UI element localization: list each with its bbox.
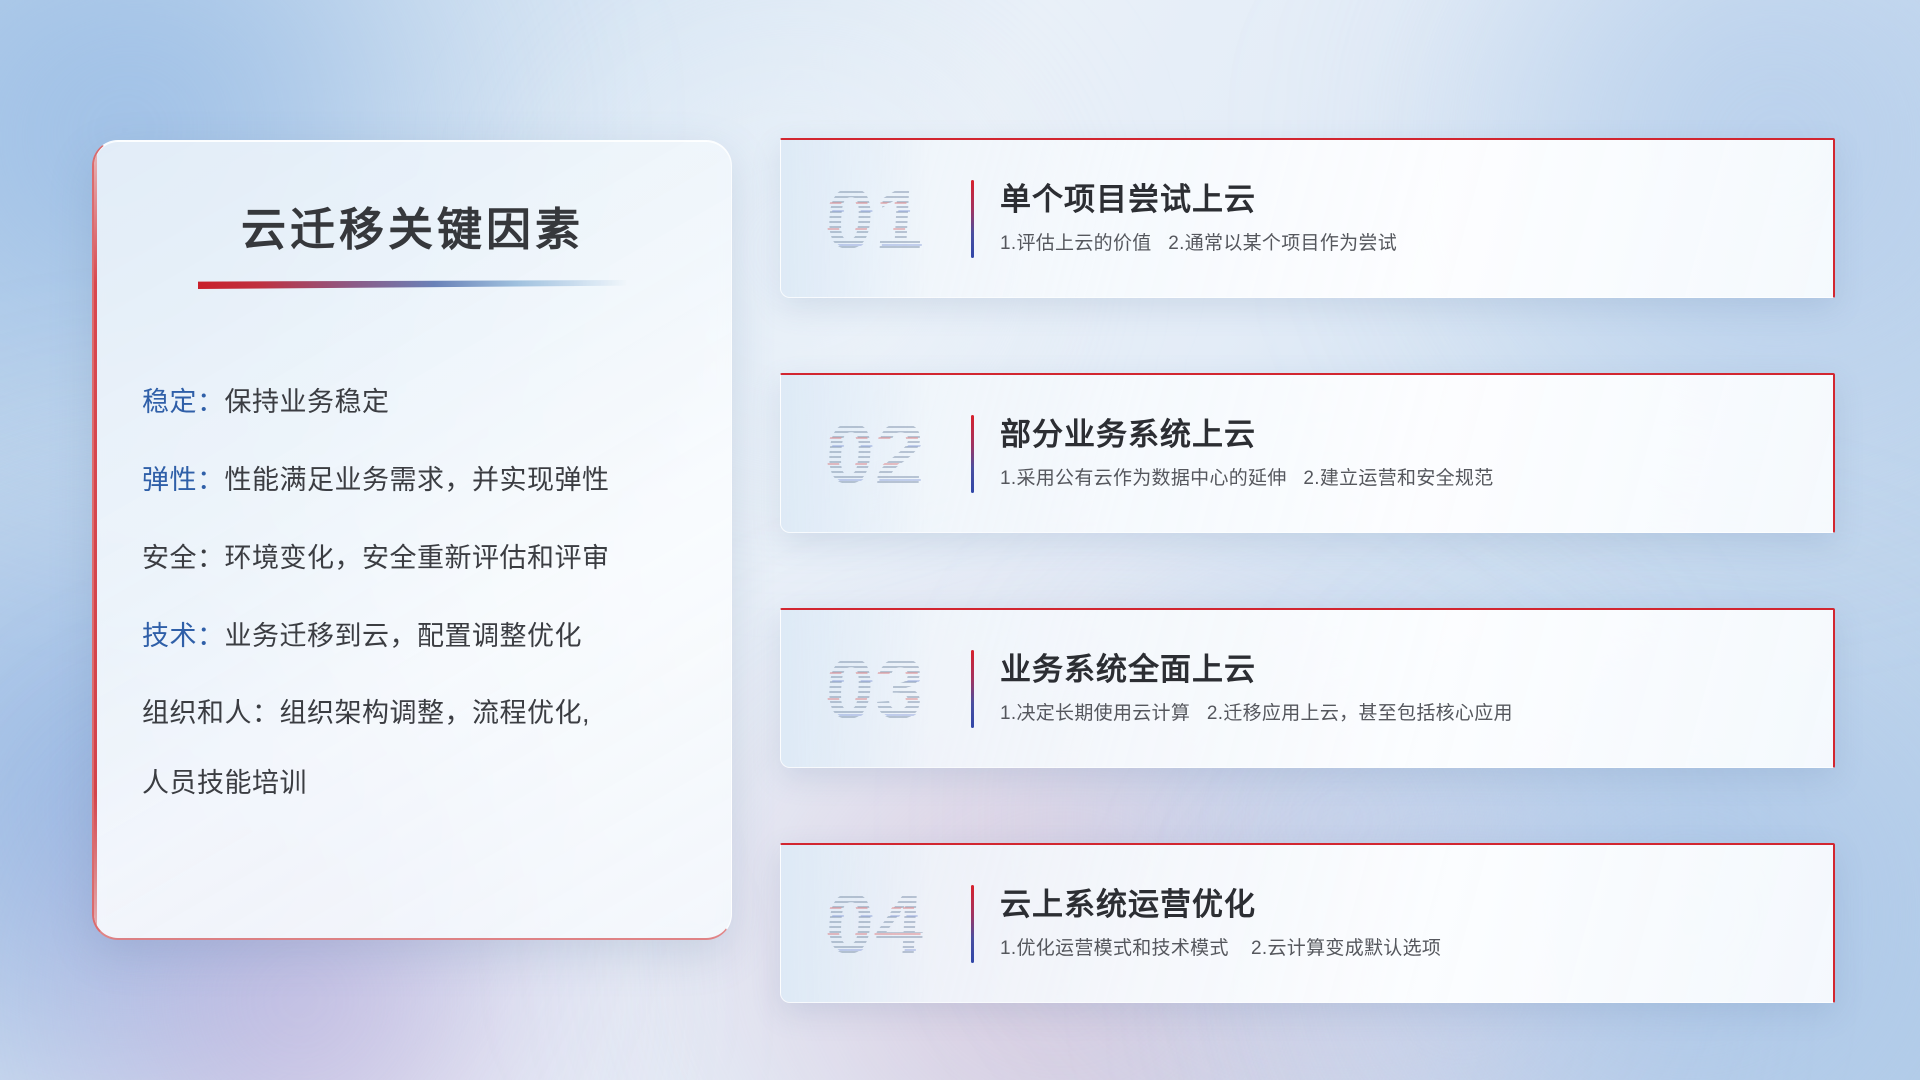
stage-number-glitch: 030303 (824, 646, 928, 732)
stage-text-block: 云上系统运营优化 1.优化运营模式和技术模式 2.云计算变成默认选项 (1000, 886, 1465, 962)
factor-value-continued: 人员技能培训 (142, 763, 691, 805)
title-underline-gradient (198, 280, 628, 290)
factor-row: 安全：环境变化，安全重新评估和评审 (142, 538, 691, 580)
factor-label: 组织和人： (142, 698, 280, 728)
factor-row: 技术：业务迁移到云，配置调整优化 (142, 616, 691, 658)
stage-subtitle: 1.评估上云的价值 2.通常以某个项目作为尝试 (1000, 232, 1397, 257)
stage-title: 云上系统运营优化 (1000, 886, 1441, 923)
stage-divider-bar (971, 415, 974, 493)
factor-label: 稳定： (142, 387, 225, 417)
factor-value: 保持业务稳定 (225, 387, 390, 417)
stage-number-badge: 040404 (781, 845, 971, 1002)
stage-number-badge: 030303 (781, 610, 971, 767)
factor-value: 环境变化，安全重新评估和评审 (225, 543, 610, 573)
stage-card-04[interactable]: 040404 云上系统运营优化 1.优化运营模式和技术模式 2.云计算变成默认选… (780, 843, 1835, 1003)
stage-card-02[interactable]: 020202 部分业务系统上云 1.采用公有云作为数据中心的延伸 2.建立运营和… (780, 373, 1835, 533)
migration-stage-list: 010101 单个项目尝试上云 1.评估上云的价值 2.通常以某个项目作为尝试 … (780, 138, 1835, 1003)
factor-row: 组织和人：组织架构调整，流程优化, (142, 693, 691, 735)
factor-label: 安全： (142, 543, 225, 573)
stage-card-01[interactable]: 010101 单个项目尝试上云 1.评估上云的价值 2.通常以某个项目作为尝试 (780, 138, 1835, 298)
stage-text-block: 部分业务系统上云 1.采用公有云作为数据中心的延伸 2.建立运营和安全规范 (1000, 416, 1518, 492)
stage-number-glitch: 040404 (824, 881, 928, 967)
stage-subtitle: 1.优化运营模式和技术模式 2.云计算变成默认选项 (1000, 937, 1441, 962)
stage-number-badge: 010101 (781, 140, 971, 297)
stage-text-block: 单个项目尝试上云 1.评估上云的价值 2.通常以某个项目作为尝试 (1000, 181, 1421, 257)
stage-divider-bar (971, 650, 974, 728)
stage-card-03[interactable]: 030303 业务系统全面上云 1.决定长期使用云计算 2.迁移应用上云，甚至包… (780, 608, 1835, 768)
factor-value: 组织架构调整，流程优化, (280, 698, 591, 728)
stage-divider-bar (971, 885, 974, 963)
stage-subtitle: 1.决定长期使用云计算 2.迁移应用上云，甚至包括核心应用 (1000, 702, 1513, 727)
factor-value: 业务迁移到云，配置调整优化 (225, 621, 583, 651)
stage-number-glitch: 020202 (824, 411, 928, 497)
stage-number-badge: 020202 (781, 375, 971, 532)
panel-title: 云迁移关键因素 (94, 193, 731, 258)
factor-label: 弹性： (142, 465, 225, 495)
factor-value: 性能满足业务需求，并实现弹性 (225, 465, 610, 495)
stage-title: 部分业务系统上云 (1000, 416, 1494, 453)
factor-row: 稳定：保持业务稳定 (142, 382, 691, 424)
stage-title: 业务系统全面上云 (1000, 651, 1513, 688)
stage-title: 单个项目尝试上云 (1000, 181, 1397, 218)
stage-subtitle: 1.采用公有云作为数据中心的延伸 2.建立运营和安全规范 (1000, 467, 1494, 492)
stage-number-glitch: 010101 (824, 176, 928, 262)
stage-text-block: 业务系统全面上云 1.决定长期使用云计算 2.迁移应用上云，甚至包括核心应用 (1000, 651, 1537, 727)
factor-row: 弹性：性能满足业务需求，并实现弹性 (142, 460, 691, 502)
factor-list: 稳定：保持业务稳定 弹性：性能满足业务需求，并实现弹性 安全：环境变化，安全重新… (94, 382, 731, 805)
factor-label: 技术： (142, 621, 225, 651)
key-factors-panel: 云迁移关键因素 稳定：保持业务稳定 弹性：性能满足业务需求，并实现弹性 安全：环… (92, 140, 732, 940)
stage-divider-bar (971, 180, 974, 258)
